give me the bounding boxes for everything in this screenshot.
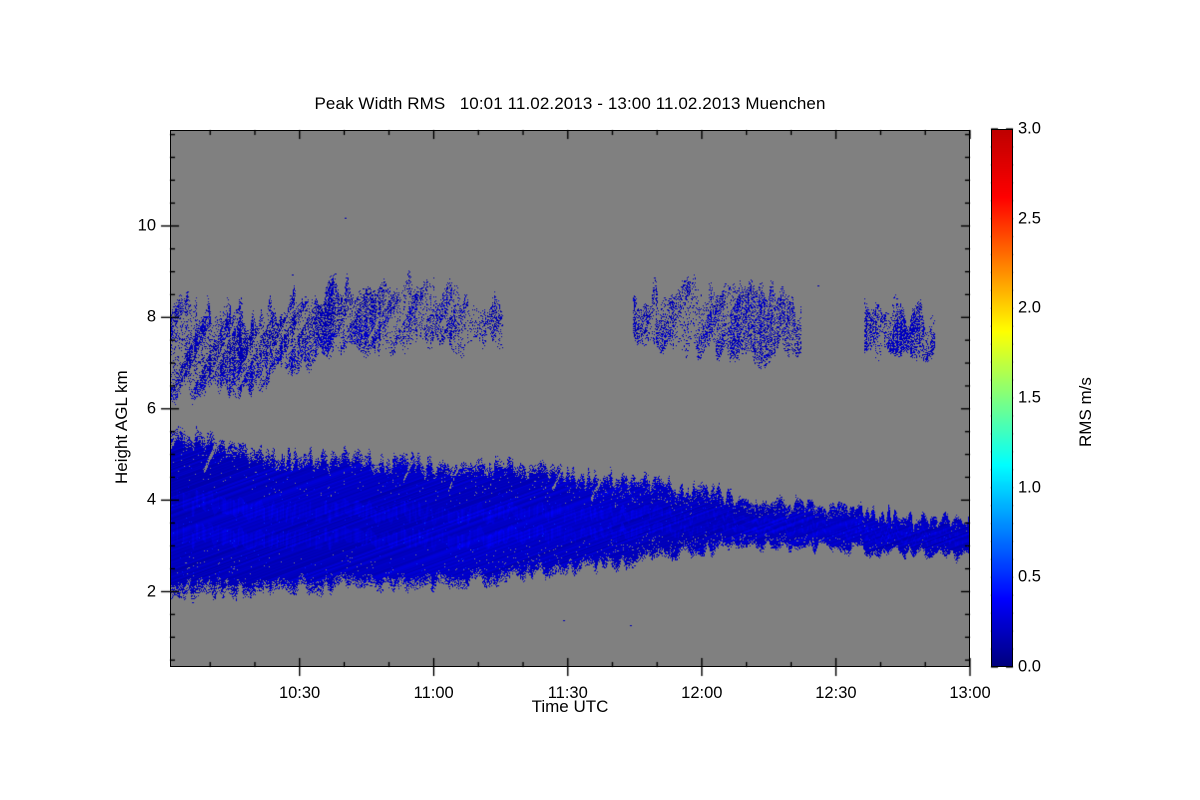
y-tick-label: 4 <box>147 491 156 510</box>
x-tick-label: 10:30 <box>279 684 320 703</box>
colorbar-tick-label: 1.5 <box>1018 389 1041 408</box>
y-tick-label: 10 <box>138 216 156 235</box>
colorbar-tick-label: 2.0 <box>1018 299 1041 318</box>
y-tick-label: 6 <box>147 399 156 418</box>
colorbar-gradient <box>992 130 1012 666</box>
colorbar-tick-label: 2.5 <box>1018 209 1041 228</box>
y-axis-label: Height AGL km <box>112 370 132 484</box>
colorbar-label: RMS m/s <box>1076 377 1096 447</box>
figure-canvas: Peak Width RMS 10:01 11.02.2013 - 13:00 … <box>0 0 1200 800</box>
x-tick-label: 12:00 <box>681 684 722 703</box>
y-tick-label: 2 <box>147 582 156 601</box>
colorbar-tick-label: 0.5 <box>1018 568 1041 587</box>
colorbar-tick-label: 3.0 <box>1018 120 1041 139</box>
colorbar-tick-label: 0.0 <box>1018 658 1041 677</box>
x-tick-label: 11:00 <box>414 684 454 703</box>
x-tick-label: 13:00 <box>949 684 990 703</box>
plot-axes-area <box>170 130 970 667</box>
plot-title: Peak Width RMS 10:01 11.02.2013 - 13:00 … <box>0 94 1140 114</box>
x-tick-label: 11:30 <box>548 684 588 703</box>
colorbar <box>991 129 1013 667</box>
x-tick-label: 12:30 <box>815 684 856 703</box>
colorbar-tick-label: 1.0 <box>1018 478 1041 497</box>
y-tick-label: 8 <box>147 308 156 327</box>
heatmap-data-layer <box>171 131 969 666</box>
